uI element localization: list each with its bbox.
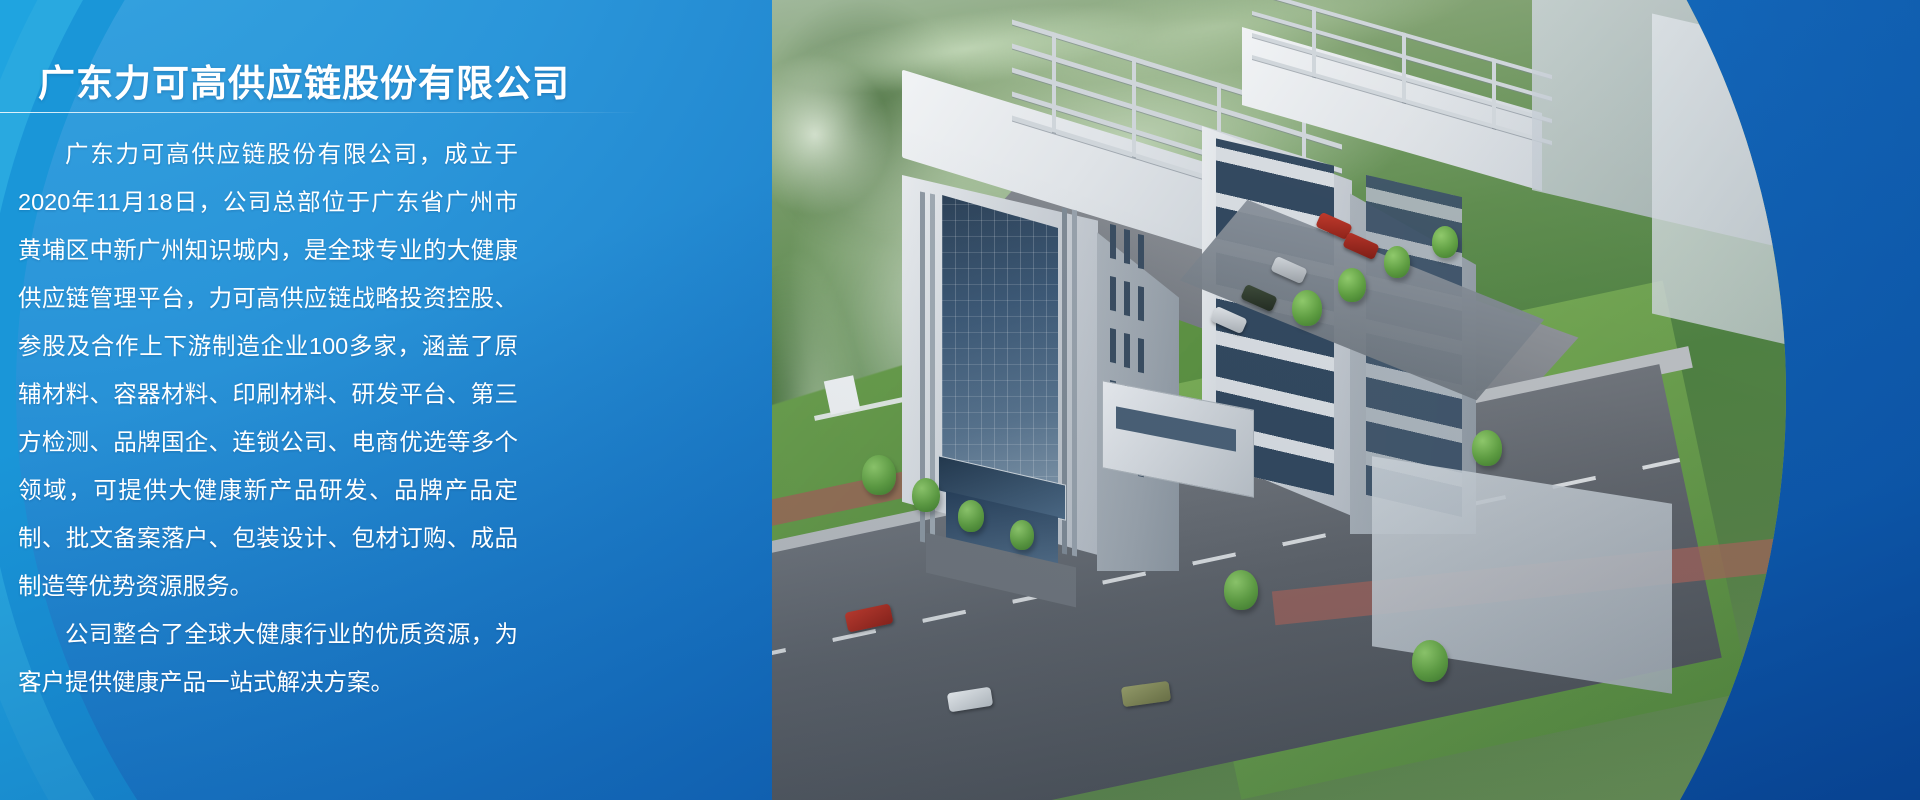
description-paragraph-1: 广东力可高供应链股份有限公司，成立于2020年11月18日，公司总部位于广东省广… bbox=[18, 130, 518, 610]
company-description: 广东力可高供应链股份有限公司，成立于2020年11月18日，公司总部位于广东省广… bbox=[18, 130, 518, 706]
title-divider bbox=[0, 112, 640, 113]
text-panel: 广东力可高供应链股份有限公司 广东力可高供应链股份有限公司，成立于2020年11… bbox=[0, 0, 620, 800]
company-profile-banner: 广东力可高供应链股份有限公司 广东力可高供应链股份有限公司，成立于2020年11… bbox=[0, 0, 1920, 800]
description-paragraph-2: 公司整合了全球大健康行业的优质资源，为客户提供健康产品一站式解决方案。 bbox=[18, 610, 518, 706]
building-photograph bbox=[772, 0, 1786, 800]
page-title: 广东力可高供应链股份有限公司 bbox=[38, 53, 570, 107]
photo-shading-overlay bbox=[772, 0, 1786, 800]
